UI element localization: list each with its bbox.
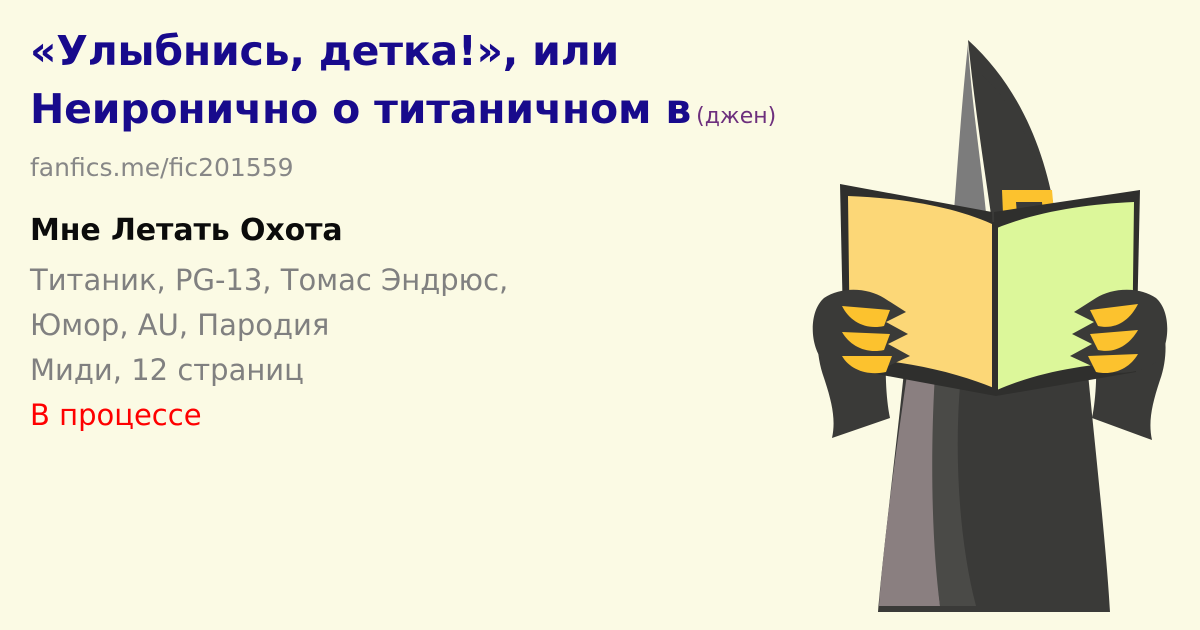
hat-buckle	[1002, 190, 1056, 238]
meta-line: Юмор, AU, Пародия	[30, 303, 790, 348]
meta-line: Миди, 12 страниц	[30, 348, 790, 393]
status-badge: В процессе	[30, 393, 790, 438]
open-book	[840, 184, 1140, 396]
meta-line: Титаник, PG-13, Томас Эндрюс,	[30, 258, 790, 303]
fic-meta-block: Мне Летать Охота Титаник, PG-13, Томас Э…	[30, 183, 790, 438]
source-url[interactable]: fanfics.me/fic201559	[30, 146, 790, 183]
author-name[interactable]: Мне Летать Охота	[30, 210, 790, 252]
page-title: «Улыбнись, детка!», илиНеиронично о тита…	[30, 0, 790, 146]
witch-right-hand	[1070, 290, 1167, 373]
witch-hat	[906, 40, 1102, 260]
card-text-column: «Улыбнись, детка!», илиНеиронично о тита…	[30, 0, 790, 630]
witch-left-hand	[813, 290, 910, 373]
genre-tag: (джен)	[691, 104, 776, 129]
social-share-card: «Улыбнись, детка!», илиНеиронично о тита…	[0, 0, 1200, 630]
witch-arms	[818, 300, 1166, 440]
witch-reading-book-illustration	[780, 0, 1200, 630]
witch-robe	[878, 330, 1110, 612]
title-line-1: «Улыбнись, детка!», или	[30, 27, 619, 75]
fic-meta-lines: Титаник, PG-13, Томас Эндрюс, Юмор, AU, …	[30, 252, 790, 438]
title-line-2: Неиронично о титаничном в	[30, 85, 691, 133]
